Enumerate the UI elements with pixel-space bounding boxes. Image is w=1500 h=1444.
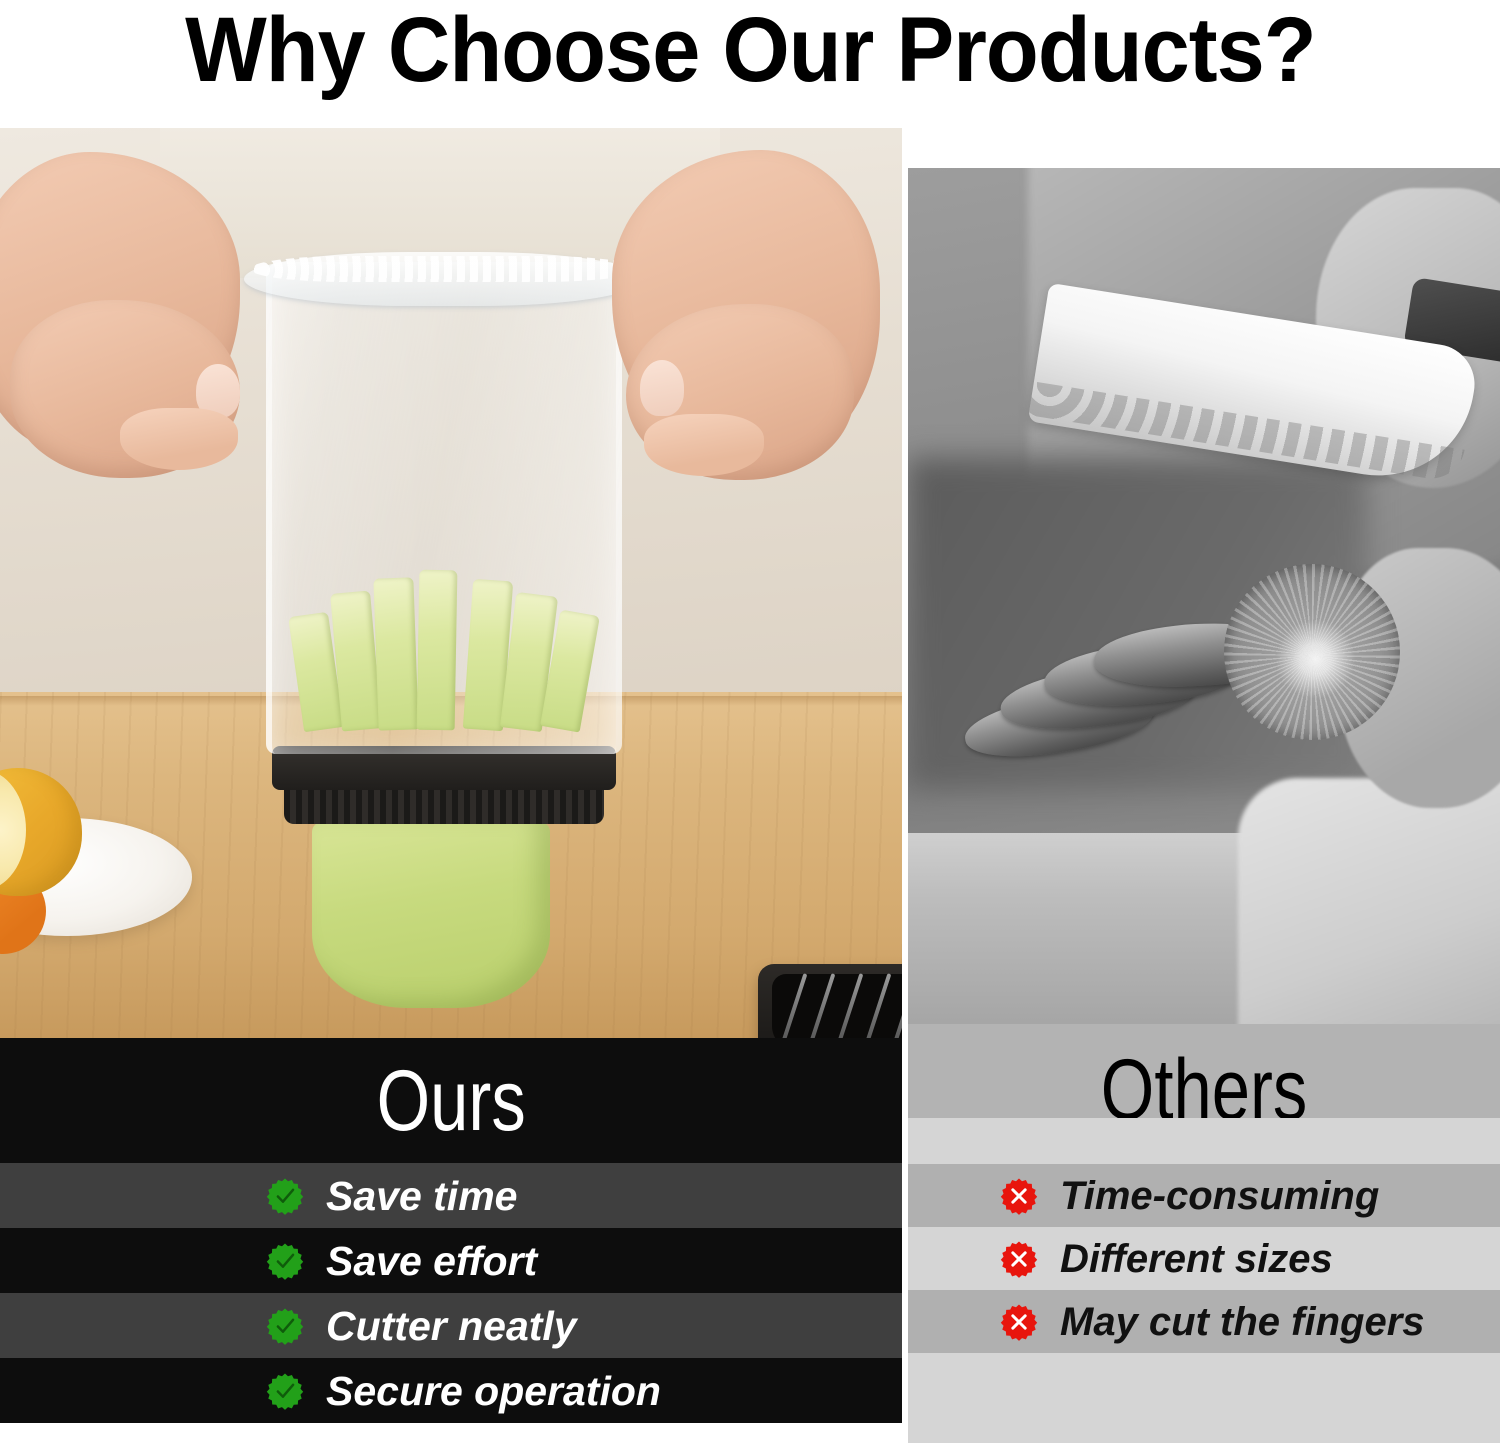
list-item-label: Time-consuming: [1060, 1174, 1379, 1218]
list-item-label: Different sizes: [1060, 1237, 1333, 1281]
list-item: Secure operation: [0, 1358, 902, 1423]
accessory-well: [772, 974, 902, 1038]
list-item: Time-consuming: [908, 1164, 1500, 1227]
list-item-label: May cut the fingers: [1060, 1300, 1425, 1344]
stripe-spacer: [908, 1118, 1500, 1164]
green-check-badge-icon: [266, 1177, 304, 1215]
others-knife-photo: [908, 168, 1500, 1038]
page-title: Why Choose Our Products?: [185, 0, 1316, 98]
list-item: May cut the fingers: [908, 1290, 1500, 1353]
list-item: Cutter neatly: [0, 1293, 902, 1358]
comparison-infographic: Why Choose Our Products?: [0, 0, 1500, 1444]
list-item-label: Cutter neatly: [326, 1304, 577, 1348]
kiwi-flesh-rays: [1224, 564, 1400, 740]
cucumber-slices-group: [292, 552, 594, 730]
list-item: Save time: [0, 1163, 902, 1228]
red-x-badge-icon: [1000, 1303, 1038, 1341]
stripe-spacer: [908, 1353, 1500, 1443]
cloth-drape: [1238, 778, 1500, 1038]
header-banner: Why Choose Our Products?: [0, 0, 1500, 128]
red-x-badge-icon: [1000, 1177, 1038, 1215]
cucumber-below-slicer: [312, 822, 550, 1008]
fingernail: [640, 360, 684, 416]
ours-product-photo: [0, 128, 902, 1038]
finger: [120, 408, 238, 470]
cucumber-slice: [373, 577, 418, 730]
photo-band: [0, 128, 1500, 1038]
green-check-badge-icon: [266, 1372, 304, 1410]
list-item: Save effort: [0, 1228, 902, 1293]
slicer-blade-accessory: [758, 964, 902, 1038]
cucumber-slice: [417, 570, 458, 731]
ours-label-bar: Ours: [0, 1038, 902, 1163]
finger: [644, 414, 764, 476]
list-item-label: Secure operation: [326, 1369, 661, 1413]
cup-scalloped-rim: [250, 256, 638, 282]
green-check-badge-icon: [266, 1307, 304, 1345]
list-item: Different sizes: [908, 1227, 1500, 1290]
green-check-badge-icon: [266, 1242, 304, 1280]
list-item-label: Save time: [326, 1174, 517, 1218]
ours-label: Ours: [376, 1057, 525, 1145]
ours-feature-list: Save time Save effort Cutter neatly: [0, 1163, 902, 1444]
list-item-label: Save effort: [326, 1239, 537, 1283]
others-feature-list: Time-consuming Different sizes May cut t…: [908, 1118, 1500, 1444]
slicer-ridged-collar: [284, 786, 604, 824]
red-x-badge-icon: [1000, 1240, 1038, 1278]
